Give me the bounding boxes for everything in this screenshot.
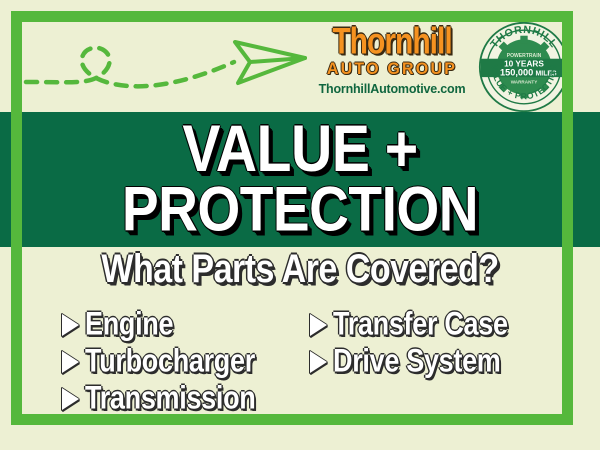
triangle-bullet-icon bbox=[310, 351, 327, 373]
part-label: Transfer Case bbox=[333, 308, 508, 340]
logo-subtitle: AUTO GROUP bbox=[312, 62, 472, 79]
dashed-flight-path-graphic bbox=[22, 22, 322, 104]
badge-warranty-text: WARRANTY bbox=[511, 80, 538, 85]
logo-website-url: ThornhillAutomotive.com bbox=[312, 83, 472, 96]
list-item: Transfer Case bbox=[310, 306, 542, 343]
part-label: Engine bbox=[85, 308, 173, 340]
covered-parts-right-column: Transfer Case Drive System bbox=[310, 306, 542, 417]
thornhill-logo: Thornhill AUTO GROUP ThornhillAutomotive… bbox=[312, 24, 472, 104]
list-item: Transmission bbox=[62, 380, 310, 417]
triangle-bullet-icon bbox=[62, 351, 79, 373]
badge-powertrain-text: POWERTRAIN bbox=[507, 53, 542, 59]
triangle-bullet-icon bbox=[62, 314, 79, 336]
list-item: Drive System bbox=[310, 343, 542, 380]
headline-band bbox=[0, 112, 600, 247]
dashed-path bbox=[26, 48, 234, 87]
part-label: Turbocharger bbox=[85, 345, 255, 377]
covered-parts-left-column: Engine Turbocharger Transmission bbox=[62, 306, 310, 417]
triangle-bullet-icon bbox=[62, 388, 79, 410]
warranty-badge: THORNHILL POWERTRAIN 10 YEARS 150,000 MI… bbox=[478, 21, 570, 113]
part-label: Transmission bbox=[85, 382, 255, 414]
badge-miles-number: 150,000 bbox=[500, 67, 533, 77]
promotional-banner: Thornhill AUTO GROUP ThornhillAutomotive… bbox=[0, 0, 600, 450]
triangle-bullet-icon bbox=[310, 314, 327, 336]
subheading: What Parts Are Covered? bbox=[0, 252, 600, 286]
paper-plane-arrow bbox=[235, 42, 305, 83]
list-item: Turbocharger bbox=[62, 343, 310, 380]
logo-wordmark: Thornhill bbox=[312, 24, 472, 61]
subheading-text: What Parts Are Covered? bbox=[101, 249, 498, 289]
part-label: Drive System bbox=[333, 345, 501, 377]
covered-parts-list: Engine Turbocharger Transmission Transfe… bbox=[62, 306, 542, 417]
list-item: Engine bbox=[62, 306, 310, 343]
